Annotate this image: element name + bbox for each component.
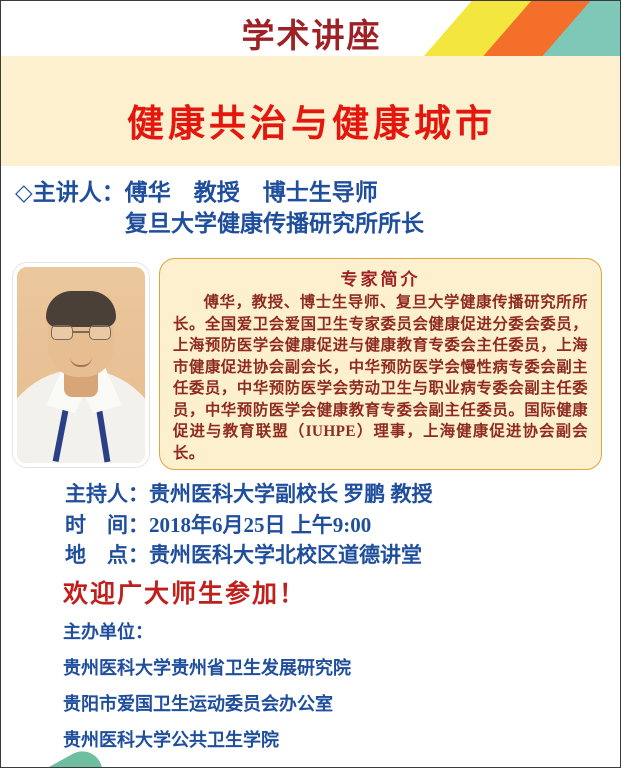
expert-bio-card: 专家简介 傅华，教授、博士生导师、复旦大学健康传播研究所所长。全国爱卫会爱国卫生… <box>159 258 602 470</box>
welcome-message: 欢迎广大师生参加！ <box>63 574 306 610</box>
detail-host: 主持人：贵州医科大学副校长 罗鹏 教授 <box>65 479 605 510</box>
speaker-affiliation-line: 复旦大学健康传播研究所所长 <box>15 208 615 239</box>
speaker-portrait-photo <box>13 263 149 467</box>
organizer-item: 贵阳市爱国卫生运动委员会办公室 <box>63 690 583 716</box>
expert-bio-text: 傅华，教授、博士生导师、复旦大学健康传播研究所所长。全国爱卫会爱国卫生专家委员会… <box>173 292 588 464</box>
detail-time: 时 间：2018年6月25日 上午9:00 <box>65 510 605 541</box>
organizer-item: 贵州医科大学贵州省卫生发展研究院 <box>63 654 583 680</box>
portrait-hair <box>46 291 116 327</box>
organizer-block: 主办单位： 贵州医科大学贵州省卫生发展研究院 贵阳市爱国卫生运动委员会办公室 贵… <box>63 618 583 762</box>
detail-place: 地 点：贵州医科大学北校区道德讲堂 <box>65 540 605 571</box>
organizer-label: 主办单位： <box>63 618 583 644</box>
poster-title: 健康共治与健康城市 <box>1 93 621 147</box>
organizer-item: 贵州医科大学公共卫生学院 <box>63 726 583 752</box>
poster-kicker: 学术讲座 <box>1 9 621 57</box>
glasses-lens-right <box>89 325 111 340</box>
expert-bio-heading: 专家简介 <box>173 265 588 290</box>
glasses-bridge <box>73 331 89 333</box>
event-details: 主持人：贵州医科大学副校长 罗鹏 教授 时 间：2018年6月25日 上午9:0… <box>65 479 605 571</box>
lecture-poster: 学术讲座 健康共治与健康城市 ◇主讲人：傅华 教授 博士生导师 复旦大学健康传播… <box>0 0 621 768</box>
speaker-name-line: ◇主讲人：傅华 教授 博士生导师 <box>15 177 615 208</box>
glasses-lens-left <box>51 325 73 340</box>
portrait-glasses-icon <box>51 325 111 341</box>
speaker-block: ◇主讲人：傅华 教授 博士生导师 复旦大学健康传播研究所所长 <box>15 177 615 239</box>
